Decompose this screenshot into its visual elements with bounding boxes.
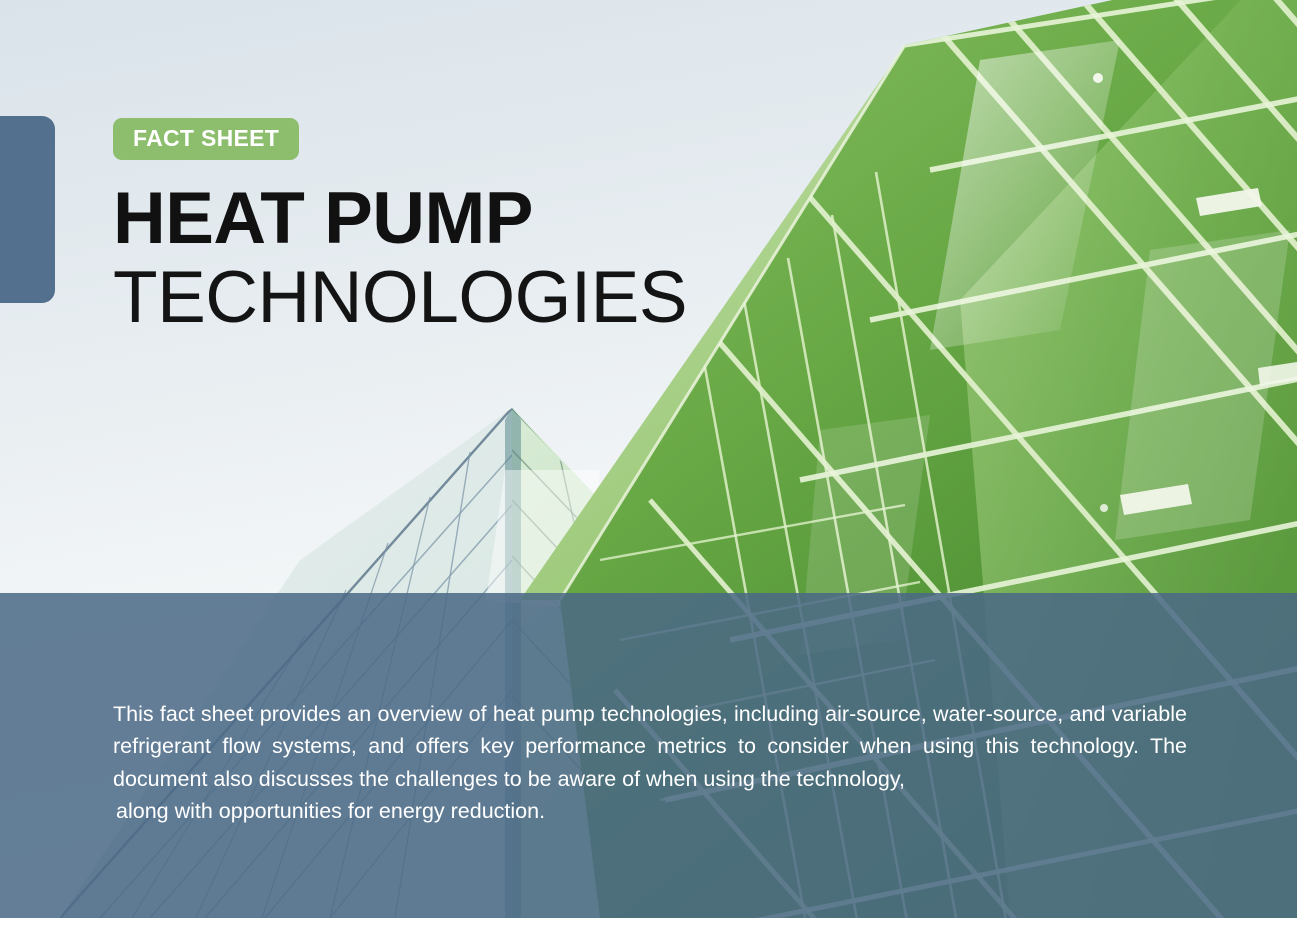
summary-body-text: This fact sheet provides an overview of … (113, 702, 1187, 791)
page-title-secondary: TECHNOLOGIES (113, 261, 813, 334)
side-accent-tab (0, 116, 55, 303)
summary-last-line: along with opportunities for energy redu… (113, 795, 1187, 827)
fact-sheet-cover: FACT SHEET HEAT PUMP TECHNOLOGIES This f… (0, 0, 1297, 936)
cover-header: FACT SHEET HEAT PUMP TECHNOLOGIES (113, 118, 813, 334)
summary-paragraph: This fact sheet provides an overview of … (113, 698, 1187, 828)
fact-sheet-badge: FACT SHEET (113, 118, 299, 160)
page-title-primary: HEAT PUMP (113, 182, 813, 255)
